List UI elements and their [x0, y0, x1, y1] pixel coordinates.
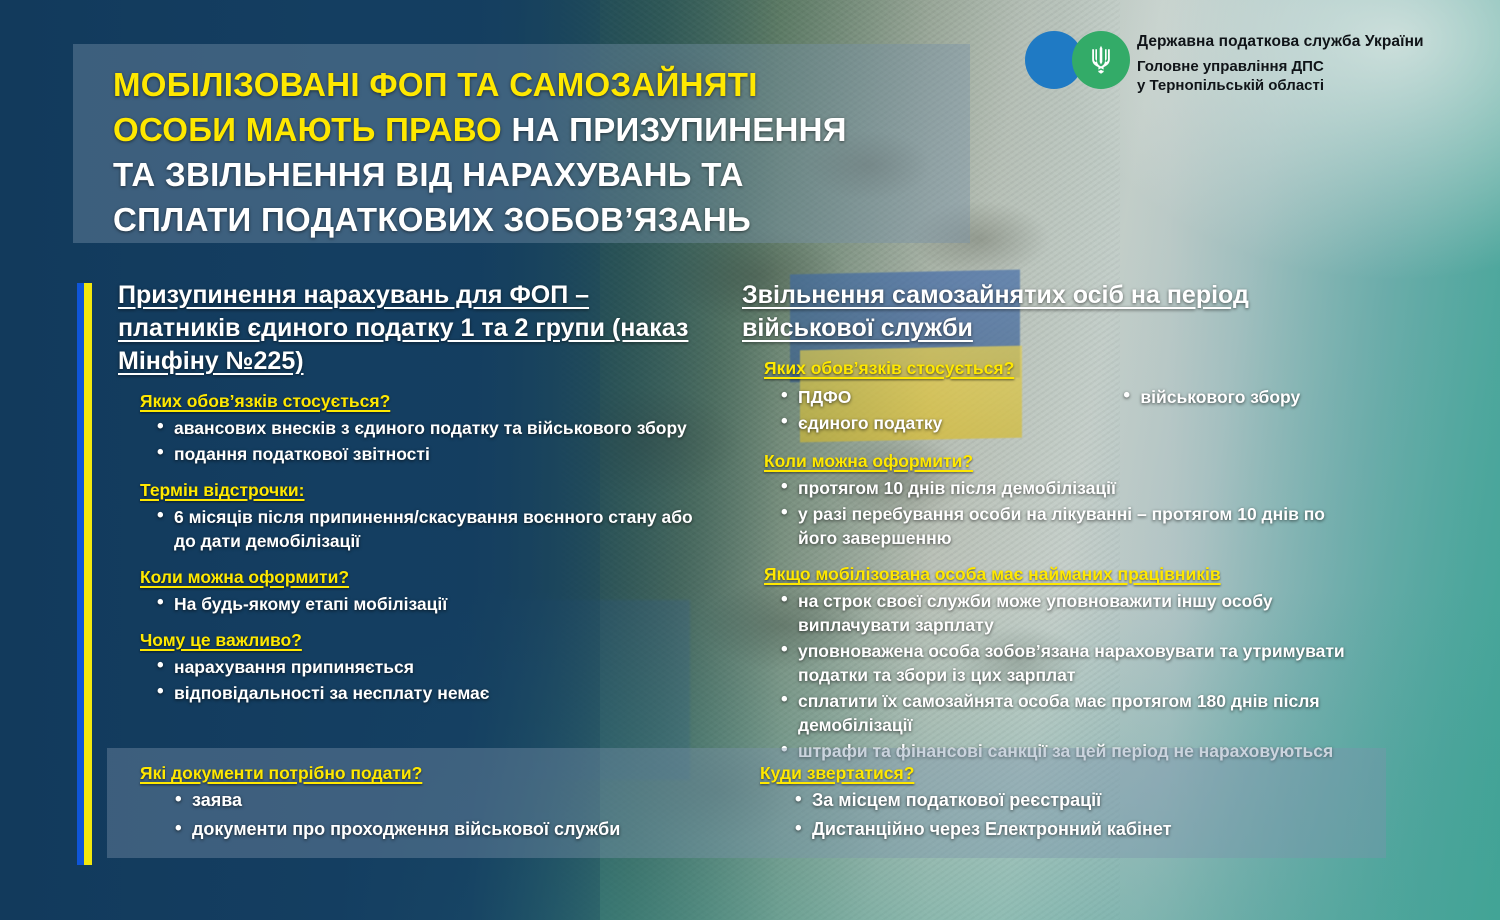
page-title: МОБІЛІЗОВАНІ ФОП ТА САМОЗАЙНЯТІ ОСОБИ МА…	[113, 62, 970, 242]
organisation-text: Державна податкова служба України Головн…	[1137, 30, 1424, 95]
left-section-list-4: нарахування припиняється відповідальност…	[152, 655, 718, 705]
headline-banner: МОБІЛІЗОВАНІ ФОП ТА САМОЗАЙНЯТІ ОСОБИ МА…	[73, 44, 970, 243]
organisation-logo-block: Державна податкова служба України Головн…	[1025, 30, 1424, 95]
logo-circles	[1025, 30, 1137, 92]
title-line-2-rest: НА ПРИЗУПИНЕННЯ	[511, 111, 846, 148]
org-name-regional-line1: Головне управління ДПС	[1137, 57, 1424, 76]
title-line-4: СПЛАТИ ПОДАТКОВИХ ЗОБОВ’ЯЗАНЬ	[113, 201, 751, 238]
accent-bar-blue	[77, 283, 84, 865]
title-line-3: ТА ЗВІЛЬНЕННЯ ВІД НАРАХУВАНЬ ТА	[113, 156, 744, 193]
list-item: подання податкової звітності	[174, 442, 718, 466]
left-section-heading-1: Яких обов’язків стосується?	[140, 390, 718, 413]
right-section-list-1: ПДФО єдиного податку військового збору	[742, 383, 1364, 437]
left-section-list-3: На будь-якому етапі мобілізації	[152, 592, 718, 616]
left-section-heading-2: Термін відстрочки:	[140, 479, 718, 502]
infographic-poster: Державна податкова служба України Головн…	[0, 0, 1500, 920]
org-name-regional: Головне управління ДПС у Тернопільській …	[1137, 57, 1424, 95]
title-line-1: МОБІЛІЗОВАНІ ФОП ТА САМОЗАЙНЯТІ	[113, 66, 758, 103]
list-item: На будь-якому етапі мобілізації	[174, 592, 718, 616]
list-item: у разі перебування особи на лікуванні – …	[798, 502, 1364, 550]
bottom-left-heading: Які документи потрібно подати?	[140, 762, 620, 784]
list-item: нарахування припиняється	[174, 655, 718, 679]
bottom-panel-left-block: Які документи потрібно подати? заява док…	[140, 762, 620, 845]
right-section-list-1-col1: ПДФО єдиного податку	[776, 383, 942, 437]
list-item: єдиного податку	[798, 411, 942, 435]
bottom-left-list: заява документи про проходження військов…	[170, 787, 620, 843]
list-item: уповноважена особа зобов’язана нараховув…	[798, 639, 1364, 687]
right-section-list-2: протягом 10 днів після демобілізації у р…	[776, 476, 1364, 550]
title-line-2-highlight: ОСОБИ МАЮТЬ ПРАВО	[113, 111, 511, 148]
bottom-summary-panel: Які документи потрібно подати? заява док…	[107, 748, 1386, 858]
list-item: Дистанційно через Електронний кабінет	[812, 816, 1172, 843]
ukraine-trident-icon	[1090, 45, 1112, 75]
right-section-heading-1: Яких обов’язків стосується?	[764, 357, 1364, 380]
list-item: військового збору	[1140, 385, 1300, 409]
ukraine-flag-accent-bar	[77, 283, 92, 865]
org-name-regional-line2: у Тернопільській області	[1137, 76, 1424, 95]
right-section-list-3: на строк своєї служби може уповноважити …	[776, 589, 1364, 763]
left-section-list-1: авансових внесків з єдиного податку та в…	[152, 416, 718, 466]
list-item: відповідальності за несплату немає	[174, 681, 718, 705]
right-section-heading-3: Якщо мобілізована особа має найманих пра…	[764, 563, 1364, 586]
logo-green-circle-icon	[1072, 31, 1130, 89]
left-section-heading-4: Чому це важливо?	[140, 629, 718, 652]
list-item: протягом 10 днів після демобілізації	[798, 476, 1364, 500]
right-section-list-1-col2: військового збору	[1118, 383, 1300, 437]
right-section-heading-2: Коли можна оформити?	[764, 450, 1364, 473]
bottom-right-heading: Куди звертатися?	[760, 762, 1172, 784]
list-item: заява	[192, 787, 620, 814]
left-section-heading-3: Коли можна оформити?	[140, 566, 718, 589]
left-section-list-2: 6 місяців після припинення/скасування во…	[152, 505, 718, 553]
list-item: 6 місяців після припинення/скасування во…	[174, 505, 718, 553]
left-content-column: Призупинення нарахувань для ФОП – платни…	[118, 279, 718, 707]
org-name-national: Державна податкова служба України	[1137, 32, 1424, 52]
bottom-right-list: За місцем податкової реєстрації Дистанці…	[790, 787, 1172, 843]
list-item: сплатити їх самозайнята особа має протяг…	[798, 689, 1364, 737]
list-item: на строк своєї служби може уповноважити …	[798, 589, 1364, 637]
left-column-title: Призупинення нарахувань для ФОП – платни…	[118, 279, 718, 378]
list-item: За місцем податкової реєстрації	[812, 787, 1172, 814]
accent-bar-yellow	[84, 283, 92, 865]
list-item: документи про проходження військової слу…	[192, 816, 620, 843]
list-item: авансових внесків з єдиного податку та в…	[174, 416, 718, 440]
list-item: ПДФО	[798, 385, 942, 409]
bottom-panel-right-block: Куди звертатися? За місцем податкової ре…	[760, 762, 1172, 845]
right-content-column: Звільнення самозайнятих осіб на період в…	[742, 279, 1364, 765]
right-column-title: Звільнення самозайнятих осіб на період в…	[742, 279, 1364, 345]
